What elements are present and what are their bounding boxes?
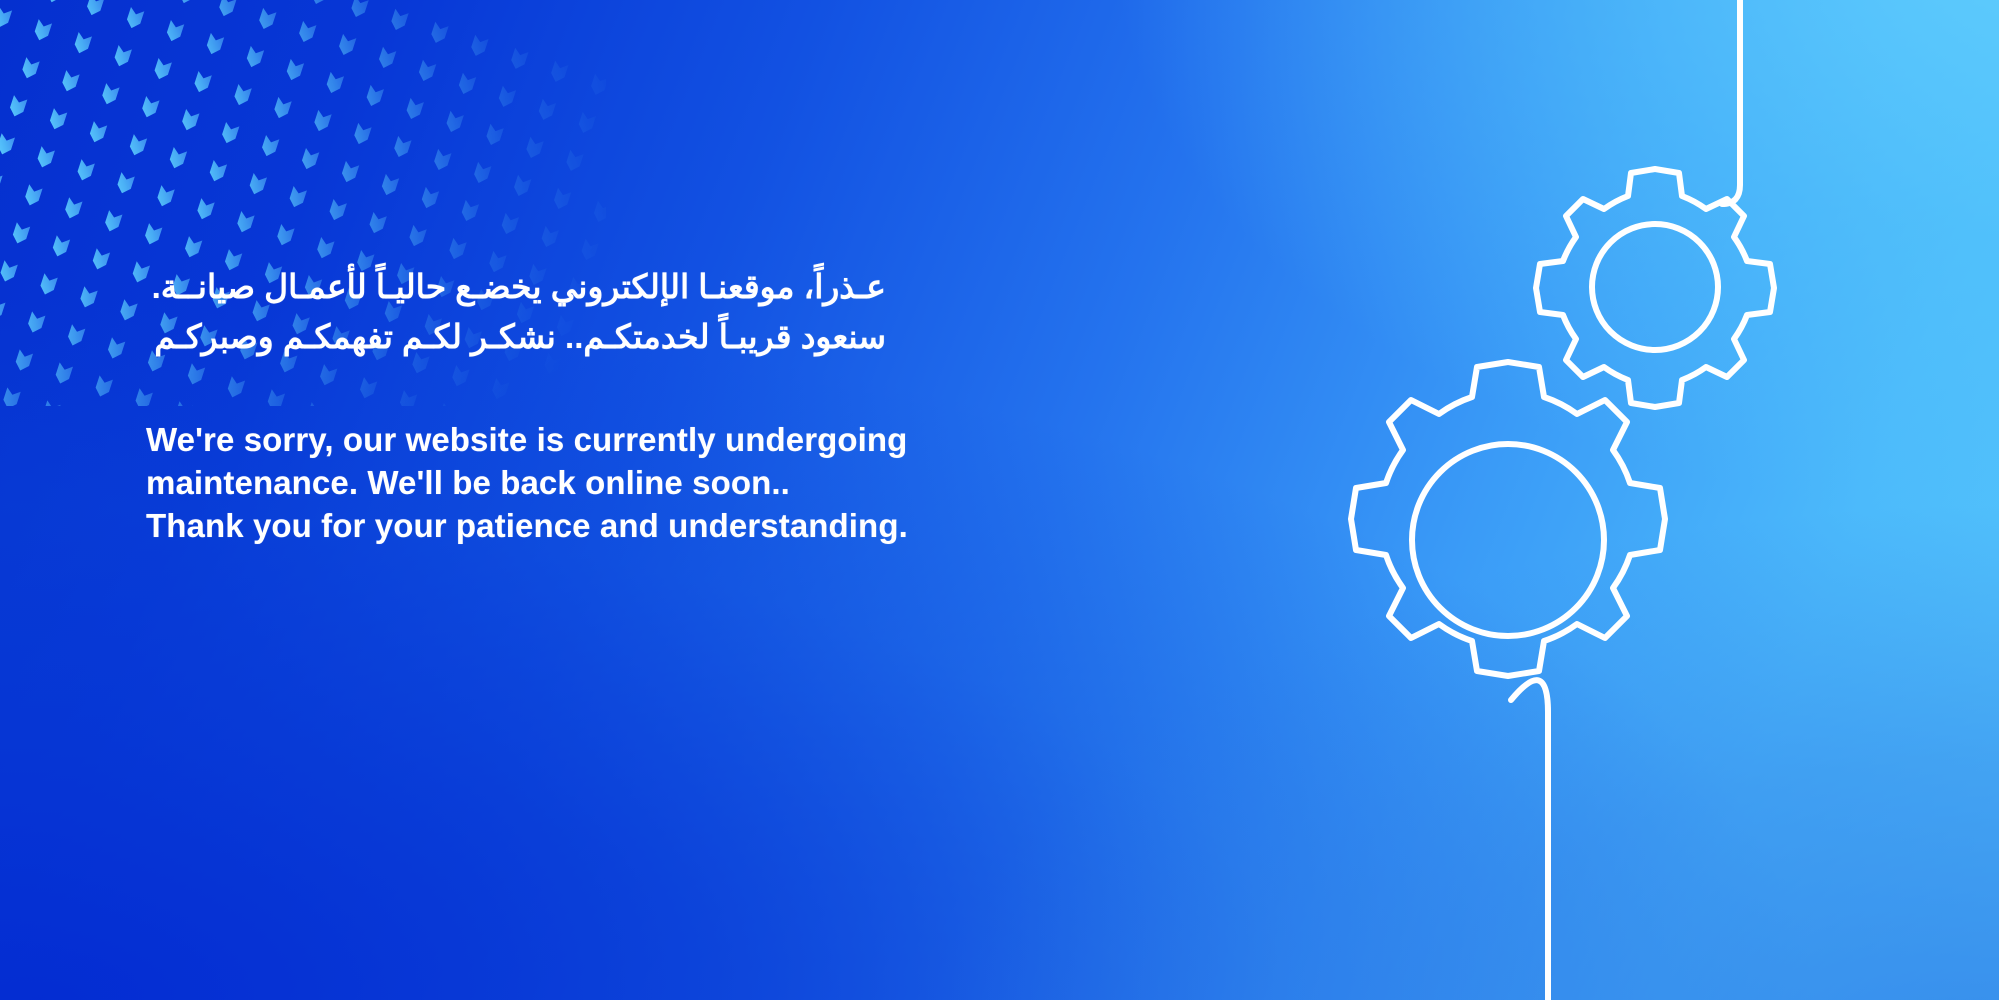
english-message: We're sorry, our website is currently un… — [146, 362, 966, 547]
maintenance-page: عـذراً، موقعنـا الإلكتروني يخضـع حاليـاً… — [0, 0, 1999, 1000]
arabic-line-2: سنعود قريبـاً لخدمتكـم.. نشكـر لكـم تفهم… — [146, 312, 886, 362]
arabic-line-1: عـذراً، موقعنـا الإلكتروني يخضـع حاليـاً… — [146, 262, 886, 312]
message-block: عـذراً، موقعنـا الإلكتروني يخضـع حاليـاً… — [146, 262, 966, 547]
english-line-1: We're sorry, our website is currently un… — [146, 418, 966, 461]
arabic-message: عـذراً، موقعنـا الإلكتروني يخضـع حاليـاً… — [146, 262, 886, 362]
english-line-2: maintenance. We'll be back online soon.. — [146, 461, 966, 504]
english-line-3: Thank you for your patience and understa… — [146, 504, 966, 547]
